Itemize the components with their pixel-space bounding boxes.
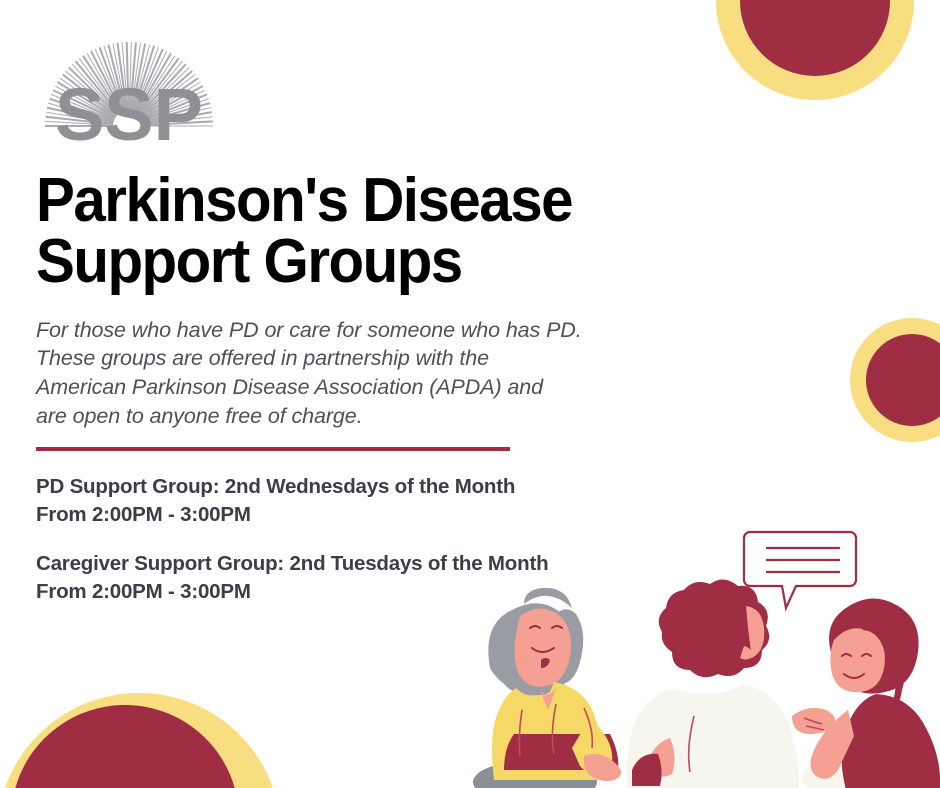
- decor-circle-top-right-inner: [740, 0, 890, 76]
- speech-bubble-icon: [744, 532, 856, 608]
- decor-circle-top-right: [716, 0, 914, 100]
- poster-canvas: SSP Parkinson's Disease Support Groups F…: [0, 0, 940, 788]
- decor-circle-right-middle: [850, 318, 940, 442]
- intro-paragraph: For those who have PD or care for someon…: [36, 293, 716, 430]
- decor-circle-bottom-left: [0, 693, 281, 788]
- figure-woman-crimson-top-gesturing: [792, 598, 940, 788]
- schedule-pd-support-group: PD Support Group: 2nd Wednesdays of the …: [36, 451, 716, 529]
- decor-circle-right-middle-inner: [866, 334, 940, 426]
- figure-person-back-view-cream-top: [627, 579, 799, 788]
- face-right: [830, 628, 884, 692]
- crimson-top: [841, 694, 940, 788]
- decor-circle-bottom-left-inner: [11, 705, 239, 788]
- logo-wordmark: SSP: [55, 73, 203, 156]
- support-group-people-illustration: [430, 520, 940, 788]
- ssp-logo: SSP: [36, 22, 222, 166]
- face-left: [514, 608, 571, 686]
- figure-woman-gray-hair-yellow-top: [488, 588, 621, 781]
- page-title: Parkinson's Disease Support Groups: [36, 170, 675, 293]
